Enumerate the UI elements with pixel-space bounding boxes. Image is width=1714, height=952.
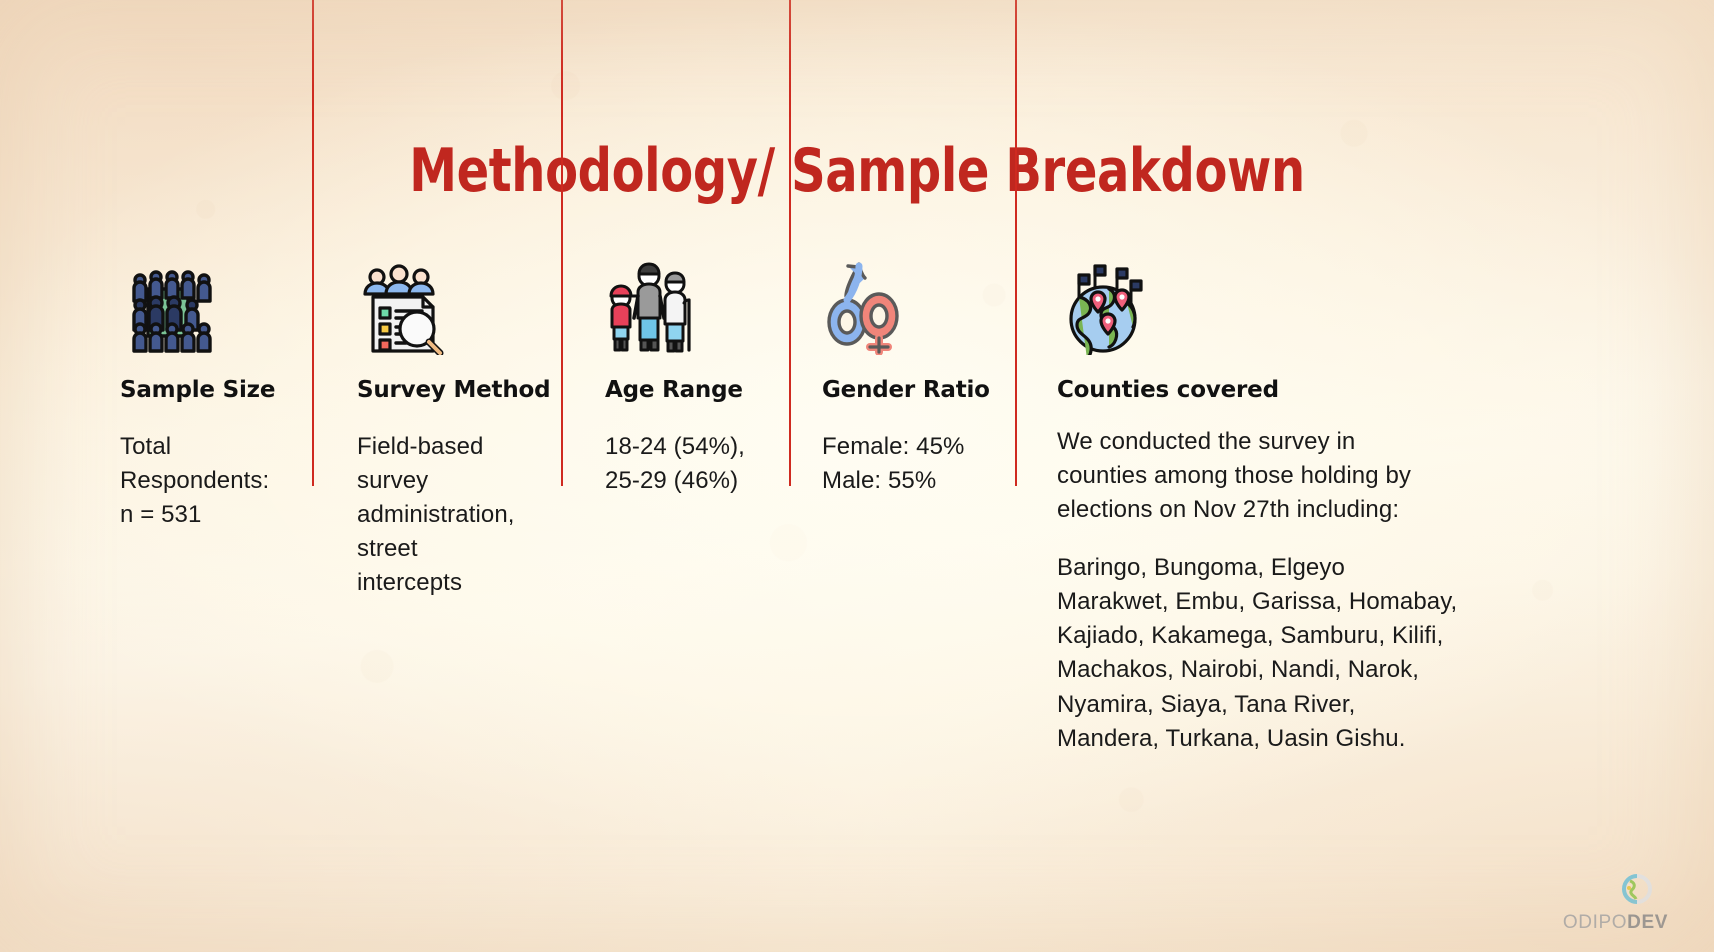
column-heading-counties-covered: Counties covered <box>1057 377 1487 403</box>
odipodev-wordmark: ODIPODEV <box>1563 912 1668 934</box>
logo-text-bold: DEV <box>1627 912 1668 933</box>
column-gender-ratio: Gender Ratio Female: 45% Male: 55% <box>822 255 1007 498</box>
column-body-gender-ratio: Female: 45% Male: 55% <box>822 430 1007 498</box>
survey-clipboard-magnifier-icon <box>357 255 542 355</box>
logo-text-light: ODIPO <box>1563 912 1627 933</box>
people-of-different-ages-icon <box>605 255 780 355</box>
column-body-survey-method: Field-based survey administration, stree… <box>357 430 542 600</box>
column-heading-survey-method: Survey Method <box>357 377 542 403</box>
column-survey-method: Survey Method Field-based survey adminis… <box>357 255 542 600</box>
column-heading-sample-size: Sample Size <box>120 377 295 403</box>
male-female-symbols-icon <box>822 255 1007 355</box>
page-title: Methodology/ Sample Breakdown <box>171 140 1542 203</box>
column-counties-covered: Counties covered We conducted the survey… <box>1057 255 1487 756</box>
columns-container: Sample Size Total Respondents: n = 531 <box>0 255 1714 795</box>
odipodev-logo: ODIPODEV <box>1518 874 1698 940</box>
column-sample-size: Sample Size Total Respondents: n = 531 <box>120 255 295 532</box>
globe-logo-icon <box>1620 872 1654 906</box>
group-of-people-icon <box>120 255 295 355</box>
column-age-range: Age Range 18-24 (54%), 25-29 (46%) <box>605 255 780 498</box>
column-body-counties-covered: We conducted the survey in counties amon… <box>1057 425 1487 527</box>
column-body-sample-size: Total Respondents: n = 531 <box>120 430 295 532</box>
slide-canvas: Methodology/ Sample Breakdown <box>0 0 1714 952</box>
globe-with-map-pins-icon <box>1057 255 1487 355</box>
column-heading-age-range: Age Range <box>605 377 780 403</box>
column-body-age-range: 18-24 (54%), 25-29 (46%) <box>605 430 780 498</box>
column-body-counties-list: Baringo, Bungoma, Elgeyo Marakwet, Embu,… <box>1057 551 1487 755</box>
column-heading-gender-ratio: Gender Ratio <box>822 377 1007 403</box>
